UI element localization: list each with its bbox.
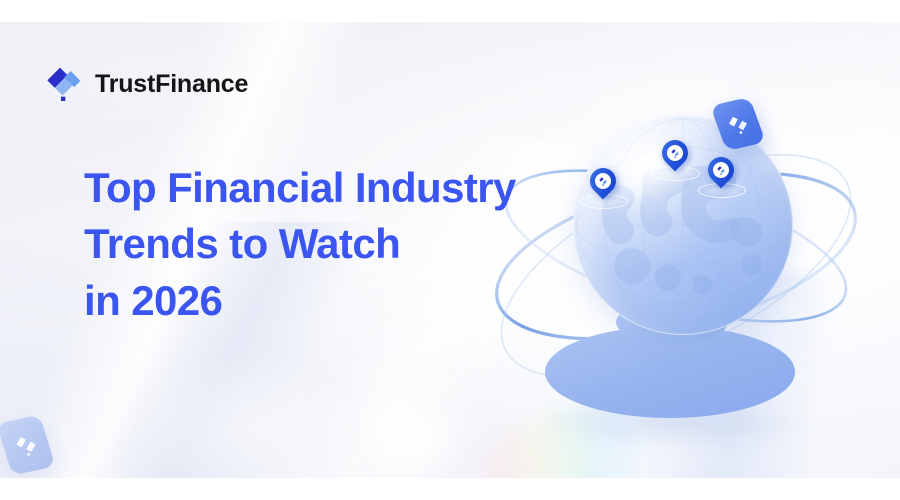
banner-canvas: TrustFinance Top Financial Industry Tren… bbox=[0, 0, 900, 500]
trustfinance-logo-icon bbox=[716, 165, 726, 175]
headline-line-3: in 2026 bbox=[84, 273, 516, 329]
trustfinance-logo-icon bbox=[723, 111, 752, 137]
map-pin-icon[interactable] bbox=[708, 157, 734, 191]
trustfinance-logo-icon bbox=[670, 148, 680, 158]
headline-line-2: Trends to Watch bbox=[84, 216, 516, 272]
headline-line-1: Top Financial Industry bbox=[84, 160, 516, 216]
brand-lockup[interactable]: TrustFinance bbox=[44, 63, 248, 105]
map-pin-icon[interactable] bbox=[590, 168, 616, 202]
letterbox-bottom bbox=[0, 478, 900, 500]
globe-on-podium-illustration bbox=[500, 60, 900, 460]
map-pin-center bbox=[595, 173, 611, 189]
trustfinance-logo-icon bbox=[44, 63, 84, 105]
trustfinance-logo-icon bbox=[598, 176, 608, 186]
trustfinance-logo-icon bbox=[11, 431, 42, 459]
letterbox-top bbox=[0, 0, 900, 22]
lens-flare-icon bbox=[350, 390, 470, 490]
page-title: Top Financial Industry Trends to Watch i… bbox=[84, 160, 516, 329]
map-pin-icon[interactable] bbox=[662, 140, 688, 174]
map-pin-center bbox=[713, 162, 729, 178]
brand-name: TrustFinance bbox=[95, 72, 248, 97]
map-pin-center bbox=[667, 145, 683, 161]
